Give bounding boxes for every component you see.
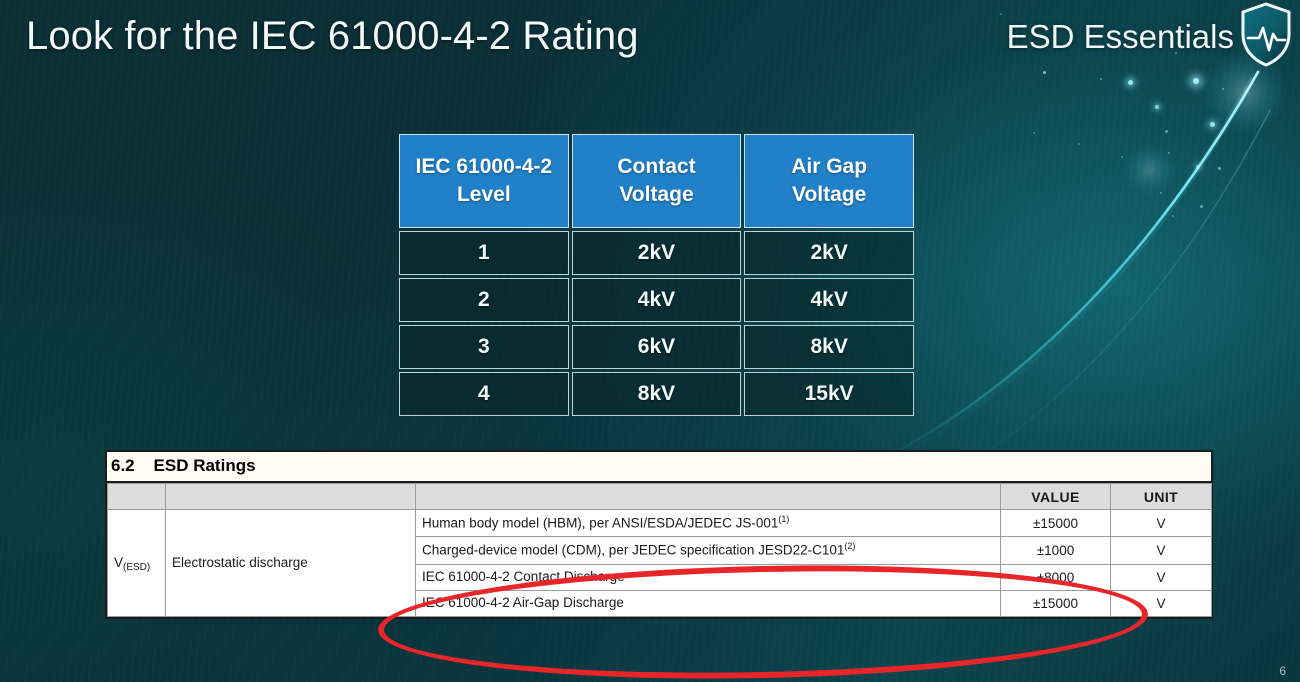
header-contact-line1: Contact [617,155,695,178]
ds-header-unit: UNIT [1111,484,1212,510]
cell-level: 3 [399,325,569,369]
datasheet-section-heading: 6.2 ESD Ratings [107,452,1211,483]
esd-ratings-table: VALUE UNIT V(ESD) Electrostatic discharg… [107,483,1212,617]
table-row: V(ESD) Electrostatic discharge Human bod… [108,510,1212,537]
ds-value: ±15000 [1001,590,1111,616]
shield-pulse-icon [1240,2,1292,68]
slide-title: Look for the IEC 61000-4-2 Rating [26,14,639,59]
ds-header-blank-2 [166,484,416,510]
cell-airgap: 15kV [744,372,914,416]
ds-symbol-base: V [114,555,123,570]
ds-description: Human body model (HBM), per ANSI/ESDA/JE… [416,510,1001,537]
cell-level: 1 [399,231,569,275]
ds-description-text: Human body model (HBM), per ANSI/ESDA/JE… [422,516,778,531]
cell-airgap: 4kV [744,278,914,322]
cell-contact: 2kV [572,231,742,275]
cell-airgap: 2kV [744,231,914,275]
ds-value: ±15000 [1001,510,1111,537]
cell-airgap: 8kV [744,325,914,369]
cell-level: 4 [399,372,569,416]
ds-description: IEC 61000-4-2 Air-Gap Discharge [416,590,1001,616]
ds-header-blank-3 [416,484,1001,510]
ds-unit: V [1111,564,1212,590]
cell-contact: 8kV [572,372,742,416]
cell-level: 2 [399,278,569,322]
cell-contact: 4kV [572,278,742,322]
header-airgap-line1: Air Gap [791,155,867,178]
iec-level-table: IEC 61000-4-2 Level Contact Voltage Air … [396,131,917,419]
ds-parameter-name: Electrostatic discharge [166,510,416,617]
ds-description: IEC 61000-4-2 Contact Discharge [416,564,1001,590]
table-row: 1 2kV 2kV [399,231,914,275]
header-iec-level-line1: IEC 61000-4-2 [416,155,553,178]
ds-footnote-marker: (2) [844,541,855,551]
ds-unit: V [1111,537,1212,564]
table-row: 4 8kV 15kV [399,372,914,416]
ds-header-blank-1 [108,484,166,510]
ds-unit: V [1111,590,1212,616]
page-number: 6 [1279,664,1286,678]
ds-header-row: VALUE UNIT [108,484,1212,510]
ds-description: Charged-device model (CDM), per JEDEC sp… [416,537,1001,564]
brand-lockup: ESD Essentials [1007,6,1292,68]
brand-title: ESD Essentials [1007,18,1234,56]
header-contact-voltage: Contact Voltage [572,134,742,228]
ds-symbol-sub: (ESD) [123,562,150,573]
ds-footnote-marker: (1) [778,514,789,524]
header-contact-line2: Voltage [619,183,693,206]
header-airgap-line2: Voltage [792,183,866,206]
header-iec-level: IEC 61000-4-2 Level [399,134,569,228]
header-iec-level-line2: Level [457,183,511,206]
ds-value: ±8000 [1001,564,1111,590]
ds-header-value: VALUE [1001,484,1111,510]
cell-contact: 6kV [572,325,742,369]
ds-parameter-symbol: V(ESD) [108,510,166,617]
header-airgap-voltage: Air Gap Voltage [744,134,914,228]
table-row: 3 6kV 8kV [399,325,914,369]
table-row: 2 4kV 4kV [399,278,914,322]
slide-canvas: Look for the IEC 61000-4-2 Rating ESD Es… [0,0,1300,682]
datasheet-panel: 6.2 ESD Ratings VALUE UNIT [105,450,1213,619]
ds-value: ±1000 [1001,537,1111,564]
level-table-header-row: IEC 61000-4-2 Level Contact Voltage Air … [399,134,914,228]
ds-unit: V [1111,510,1212,537]
ds-description-text: Charged-device model (CDM), per JEDEC sp… [422,543,844,558]
